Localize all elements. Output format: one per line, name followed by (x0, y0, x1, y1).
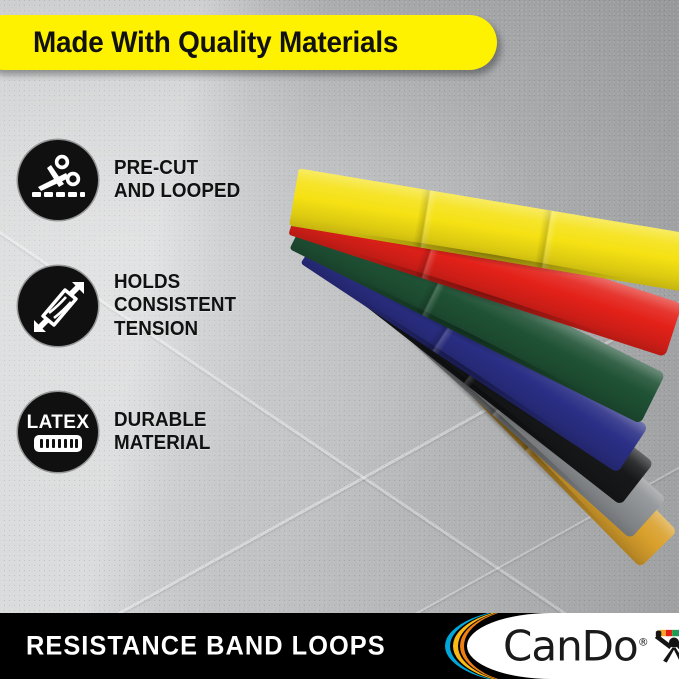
latex-icon-text: LATEX (27, 412, 90, 433)
product-marketing-image: Made With Quality Materials (0, 0, 679, 679)
cando-wordmark: CanDo® (503, 625, 649, 667)
footer-title: RESISTANCE BAND LOOPS (26, 631, 386, 662)
footer-bar: RESISTANCE BAND LOOPS CanDo® (0, 613, 679, 679)
scissors-dashed-line-icon (18, 140, 98, 220)
feature-durable-material: LATEX DURABLE MATERIAL (18, 392, 278, 472)
headline-banner: Made With Quality Materials (0, 15, 497, 70)
cando-wordmark-text: CanDo (503, 621, 638, 670)
brand-logo-panel: CanDo® (467, 613, 679, 679)
feature-label: HOLDS CONSISTENT TENSION (114, 271, 236, 341)
feature-list: PRE-CUT AND LOOPED HOLDS CONSISTENT TENS… (18, 140, 278, 518)
feature-label: PRE-CUT AND LOOPED (114, 157, 240, 204)
cando-logo: CanDo® (503, 624, 679, 669)
stretch-band-arrows-icon (18, 266, 98, 346)
registered-mark: ® (638, 635, 649, 648)
latex-band-icon: LATEX (18, 392, 98, 472)
cando-figure-icon: ® (653, 624, 679, 669)
feature-pre-cut-and-looped: PRE-CUT AND LOOPED (18, 140, 278, 220)
feature-holds-consistent-tension: HOLDS CONSISTENT TENSION (18, 266, 278, 346)
figure-overhead-bar (659, 630, 679, 636)
feature-label: DURABLE MATERIAL (114, 409, 210, 456)
headline-text: Made With Quality Materials (33, 26, 398, 60)
